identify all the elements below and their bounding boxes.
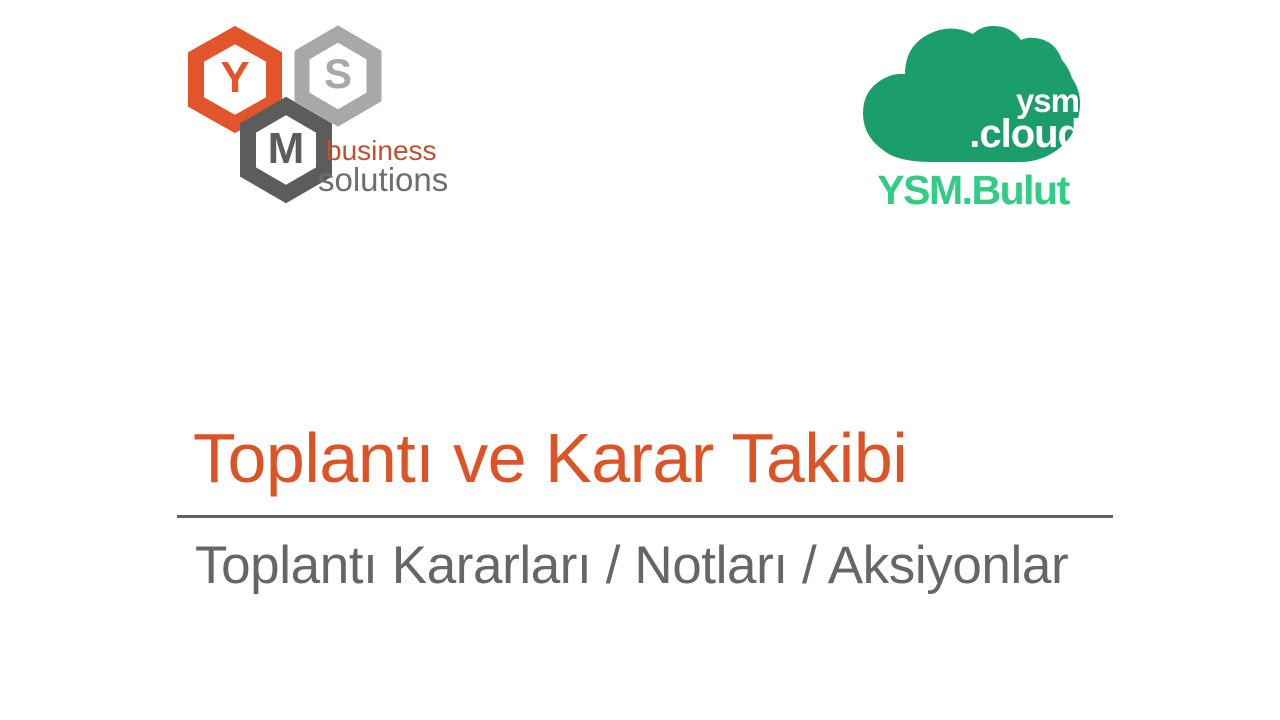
page-subtitle: Toplantı Kararları / Notları / Aksiyonla… bbox=[177, 518, 1137, 598]
ysm-bulut-cloud-logo: ysm .cloud YSM.Bulut bbox=[855, 14, 1095, 212]
ysm-business-solutions-logo: S Y M business solutions bbox=[186, 24, 448, 206]
hexagon-m-icon: M bbox=[248, 106, 324, 194]
bulut-wordmark: YSM.Bulut bbox=[877, 167, 1070, 212]
page-title: Toplantı ve Karar Takibi bbox=[177, 415, 1137, 501]
svg-text:M: M bbox=[268, 124, 305, 173]
cloud-text-cloud: .cloud bbox=[969, 112, 1081, 156]
svg-text:S: S bbox=[324, 50, 352, 97]
title-block: Toplantı ve Karar Takibi Toplantı Kararl… bbox=[177, 415, 1137, 598]
logo-wordmark-solutions: solutions bbox=[318, 161, 448, 198]
title-slide: S Y M business solutions ysm bbox=[0, 0, 1280, 720]
hexagon-s-icon: S bbox=[302, 34, 374, 118]
svg-text:Y: Y bbox=[220, 53, 249, 102]
